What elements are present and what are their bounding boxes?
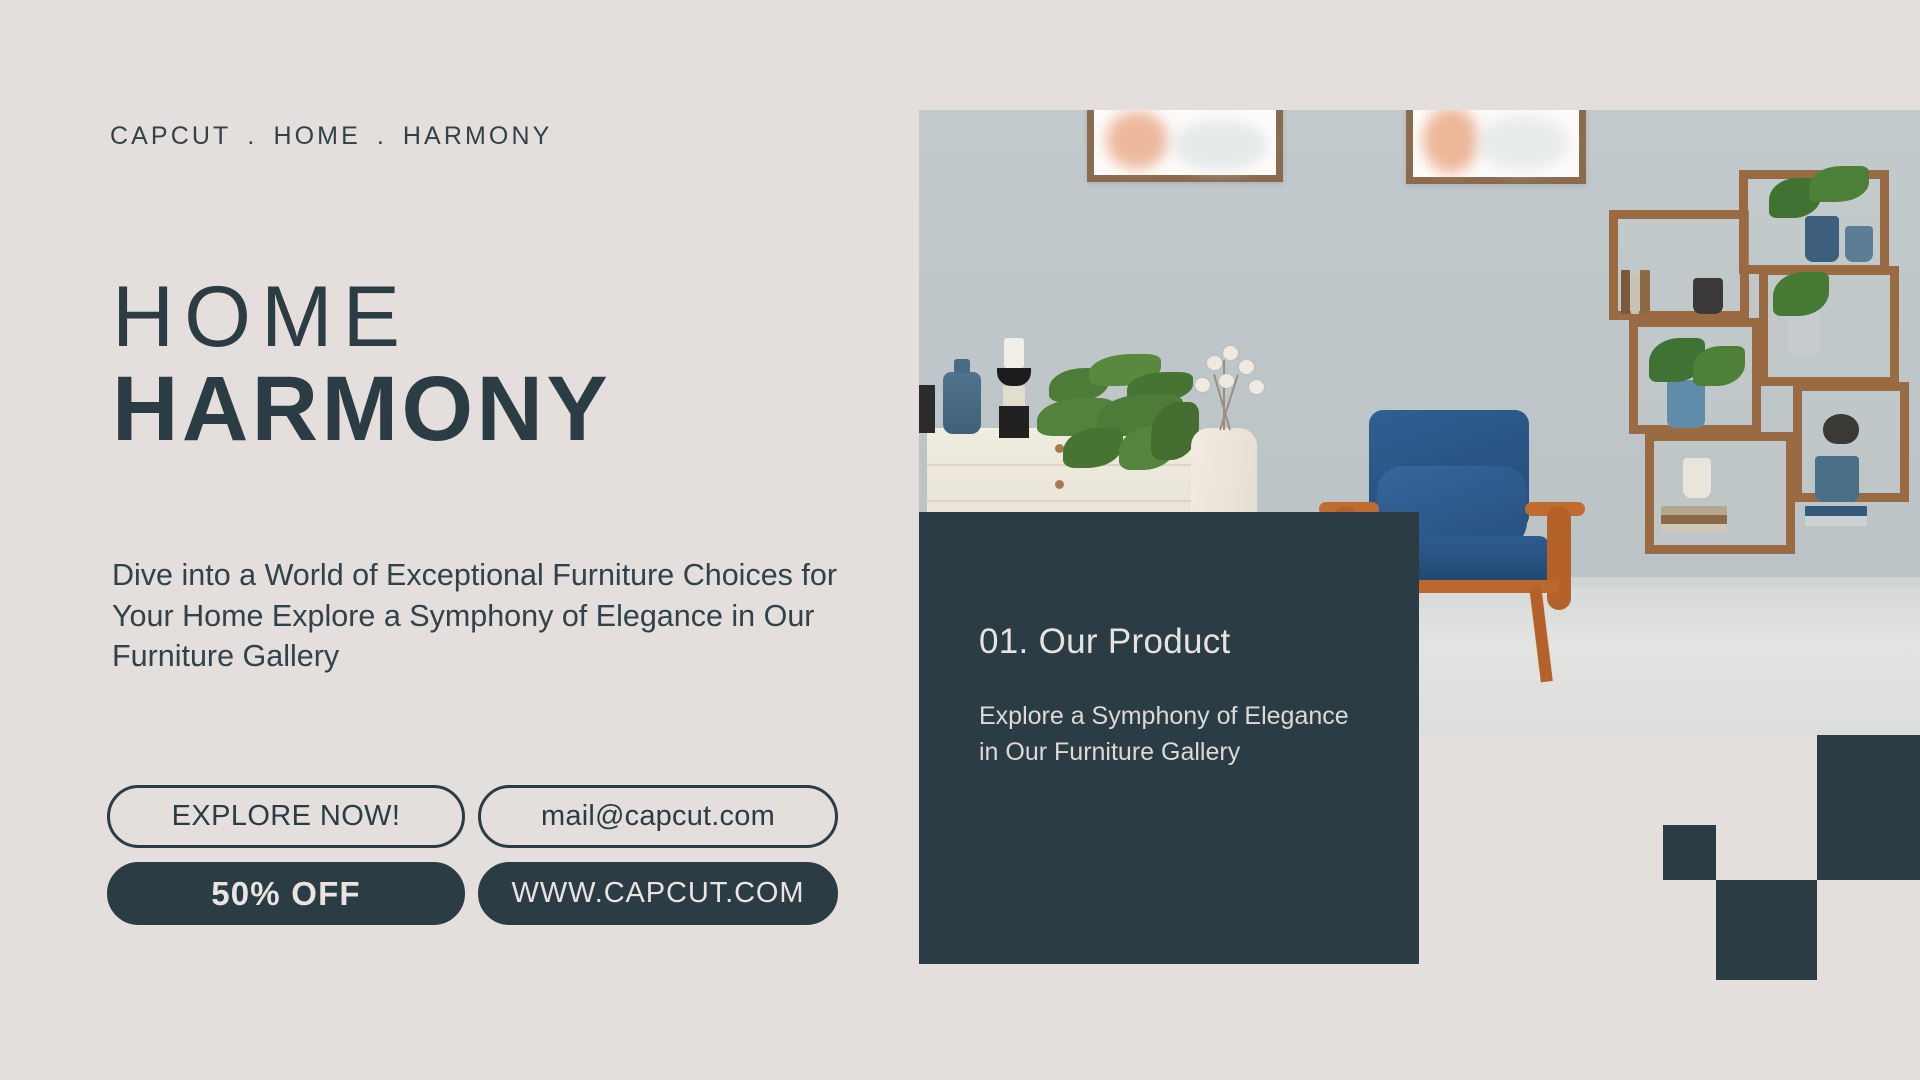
discount-badge-button[interactable]: 50% OFF xyxy=(107,862,465,925)
breadcrumb-separator-2: . xyxy=(377,122,387,150)
product-overlay-card: 01. Our Product Explore a Symphony of El… xyxy=(919,512,1419,964)
decor-square-small xyxy=(1663,825,1716,880)
lead-paragraph: Dive into a World of Exceptional Furnitu… xyxy=(112,555,852,677)
checkerboard-decoration xyxy=(1645,735,1920,965)
breadcrumb-item-harmony[interactable]: HARMONY xyxy=(403,122,552,150)
cta-button-group: EXPLORE NOW! mail@capcut.com 50% OFF WWW… xyxy=(107,785,838,925)
email-contact-button[interactable]: mail@capcut.com xyxy=(478,785,838,848)
breadcrumb-separator-1: . xyxy=(247,122,257,150)
headline-line-thin: HOME xyxy=(112,275,611,359)
wooden-shelving-unit xyxy=(1609,170,1909,630)
hanging-fern-plant xyxy=(1019,350,1209,480)
cta-row-top: EXPLORE NOW! mail@capcut.com xyxy=(107,785,838,848)
dark-box-decor xyxy=(919,385,935,433)
product-card-body: Explore a Symphony of Elegance in Our Fu… xyxy=(979,698,1354,770)
explore-now-button[interactable]: EXPLORE NOW! xyxy=(107,785,465,848)
product-card-title: 01. Our Product xyxy=(979,622,1357,662)
framed-artwork-left xyxy=(1087,110,1283,182)
breadcrumb-item-capcut[interactable]: CAPCUT xyxy=(110,122,231,150)
breadcrumb: CAPCUT.HOME.HARMONY xyxy=(110,122,552,151)
website-link-button[interactable]: WWW.CAPCUT.COM xyxy=(478,862,838,925)
page-title: HOME HARMONY xyxy=(112,275,611,455)
cta-row-bottom: 50% OFF WWW.CAPCUT.COM xyxy=(107,862,838,925)
left-content-column: CAPCUT.HOME.HARMONY HOME HARMONY Dive in… xyxy=(0,0,920,1080)
breadcrumb-item-home[interactable]: HOME xyxy=(273,122,360,150)
decor-square-bottom-middle xyxy=(1716,880,1817,980)
headline-line-bold: HARMONY xyxy=(112,363,611,455)
blue-glass-vase xyxy=(943,372,981,434)
decor-square-top-right xyxy=(1817,735,1920,880)
framed-artwork-right xyxy=(1406,110,1586,184)
